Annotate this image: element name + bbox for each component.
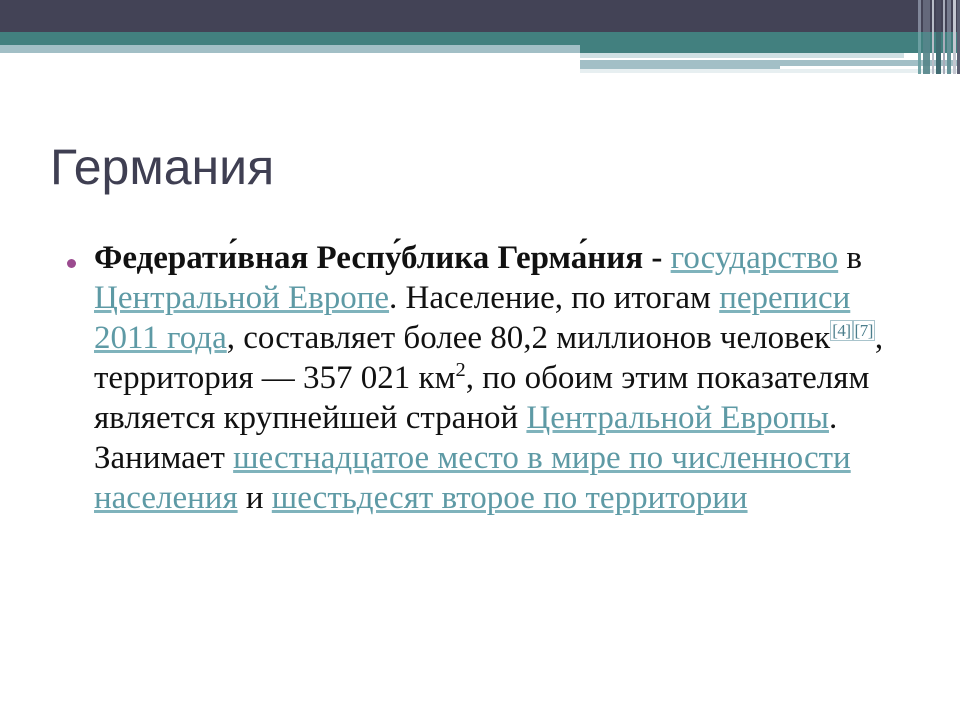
word-i: и: [246, 480, 264, 516]
slide-title: Германия: [50, 138, 870, 196]
period-2: .: [829, 400, 837, 436]
header-vertical-stripe-5: [943, 0, 945, 74]
link-shestdesyat-vtoroe[interactable]: шестьдесят второе по территории: [272, 480, 748, 516]
bold-opening-phrase: Федерати́вная Респу́блика Герма́ния -: [94, 240, 662, 276]
text-naselenie: Население, по итогам: [406, 280, 711, 316]
link-centralnoy-evropy[interactable]: Центральной Европы: [526, 400, 829, 436]
header-accent-bar-6: [580, 69, 960, 73]
citation-ref-7[interactable]: [7]: [853, 320, 875, 341]
citation-ref-4[interactable]: [4]: [830, 320, 852, 341]
link-centralnaya-evropa[interactable]: Центральной Европе: [94, 280, 389, 316]
body-paragraph: Федерати́вная Респу́блика Герма́ния - го…: [94, 238, 916, 518]
header-vertical-stripe-teal-4: [947, 32, 951, 74]
header-vertical-stripe-teal-3: [936, 32, 941, 74]
comma-1: ,: [227, 320, 235, 356]
header-vertical-stripe-3: [932, 0, 934, 74]
slide-body: Федерати́вная Респу́блика Герма́ния - го…: [56, 238, 916, 518]
header-vertical-stripe-teal-2: [923, 32, 930, 74]
text-sostavlyaet: составляет более 80,2 миллионов человек: [243, 320, 830, 356]
word-v: в: [846, 240, 862, 276]
link-perepisi[interactable]: переписи: [719, 280, 850, 316]
bullet-dot-icon: [67, 259, 76, 268]
link-gosudarstvo[interactable]: государство: [671, 240, 839, 276]
period-1: .: [389, 280, 397, 316]
header-vertical-stripe-7: [953, 0, 956, 74]
list-item: Федерати́вная Респу́блика Герма́ния - го…: [56, 238, 916, 518]
slide-canvas: Германия Федерати́вная Респу́блика Герма…: [0, 0, 960, 720]
header-vertical-stripe-teal-1: [918, 32, 921, 74]
link-2011-goda[interactable]: 2011 года: [94, 320, 227, 356]
header-band-teal: [0, 32, 960, 45]
text-zanimaet: Занимает: [94, 440, 225, 476]
header-band-navy: [0, 0, 960, 32]
header-accent-bar-1: [580, 45, 960, 53]
superscript-square: 2: [455, 359, 465, 381]
